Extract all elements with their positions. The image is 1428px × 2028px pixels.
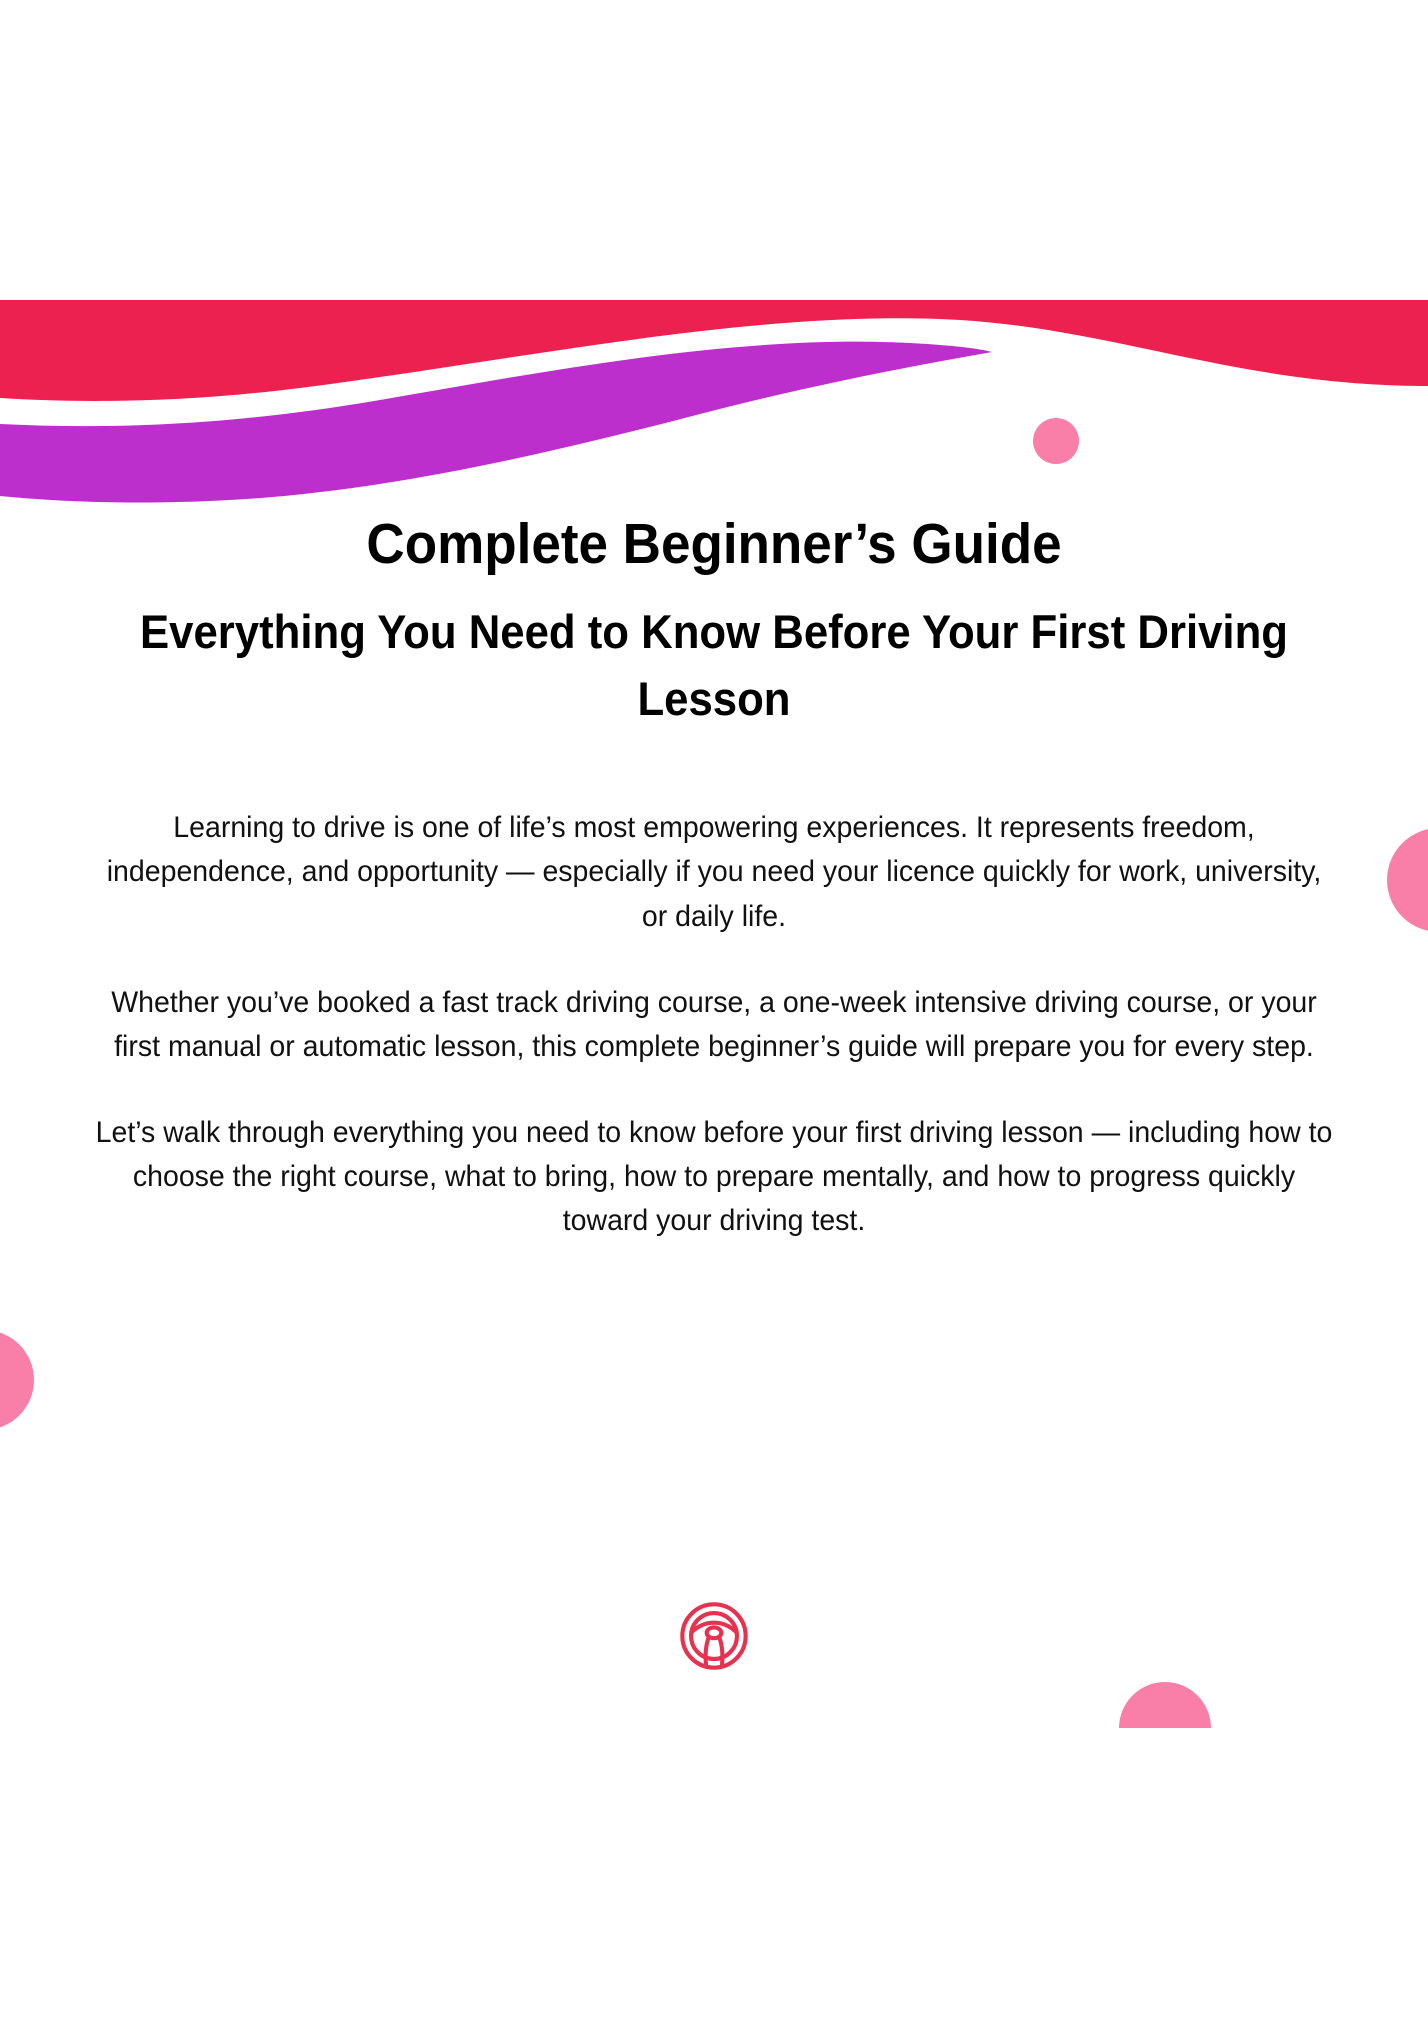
guide-page: Complete Beginner’s Guide Everything You… xyxy=(0,0,1428,2028)
decorative-circle-icon-left xyxy=(0,1330,34,1430)
steering-wheel-icon xyxy=(676,1598,752,1674)
decorative-dome-icon xyxy=(1119,1682,1211,1728)
body-paragraph: Whether you’ve booked a fast track drivi… xyxy=(93,981,1336,1069)
body-copy: Learning to drive is one of life’s most … xyxy=(0,732,1428,1243)
document-content: Complete Beginner’s Guide Everything You… xyxy=(0,0,1428,1243)
body-paragraph: Learning to drive is one of life’s most … xyxy=(93,806,1336,938)
page-subtitle: Everything You Need to Know Before Your … xyxy=(50,575,1378,732)
page-title: Complete Beginner’s Guide xyxy=(50,0,1378,575)
body-paragraph: Let’s walk through everything you need t… xyxy=(93,1111,1336,1243)
page-subtitle-line-1: Everything You Need to Know Before Your xyxy=(140,605,1018,658)
steering-wheel-icon-wrap xyxy=(0,1598,1428,1679)
